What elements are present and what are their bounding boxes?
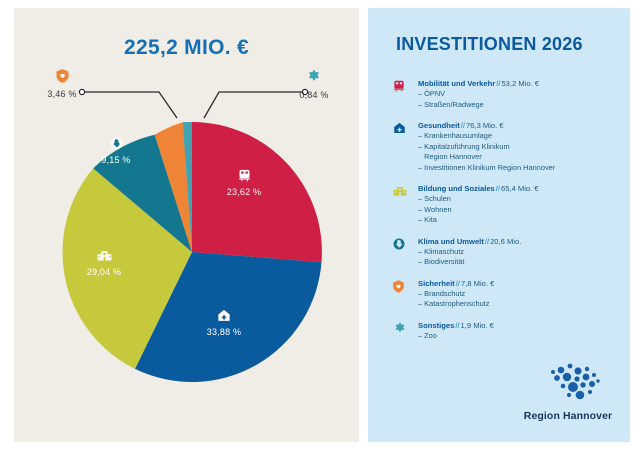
legend-panel: INVESTITIONEN 2026 Mobilität [368,8,630,442]
hospital-icon [392,121,407,135]
legend-sub-gesundheit-1: – Kapitalzuführung Klinikum [418,142,624,153]
legend-item-mobilitaet[interactable]: Mobilität und Verkehr//53,2 Mio. € – ÖPN… [392,78,624,110]
legend-sub-sonstiges-0: – Zoo [418,331,624,342]
legend-sub-mobilitaet-1: – Straßen/Radwege [418,100,624,111]
legend-head-gesundheit: Gesundheit//76,3 Mio. € [418,120,624,131]
star-icon [305,68,323,85]
shield-heart-icon [55,68,70,84]
callout-sonstiges: 0,84 % [274,68,354,100]
legend-icon-wrap-sonstiges [392,320,418,341]
legend-amount-sicherheit: 7,8 Mio. € [461,279,494,288]
legend-head-sonstiges: Sonstiges//1,9 Mio. € [418,320,624,331]
legend-list: Mobilität und Verkehr//53,2 Mio. € – ÖPN… [392,78,624,351]
logo-text: Region Hannover [513,410,623,422]
legend-item-gesundheit[interactable]: Gesundheit//76,3 Mio. € – Krankenhausuml… [392,120,624,173]
legend-text-sonstiges: Sonstiges//1,9 Mio. € – Zoo [418,320,624,342]
legend-head-mobilitaet: Mobilität und Verkehr//53,2 Mio. € [418,78,624,89]
legend-sub-gesundheit-3: – Investitionen Klinikum Region Hannover [418,163,624,174]
legend-sub-gesundheit-2: Region Hannover [418,152,624,163]
legend-sub-bildung-2: – Kita [418,215,624,226]
legend-head-sicherheit: Sicherheit//7,8 Mio. € [418,278,624,289]
legend-icon-wrap-mobilitaet [392,78,418,98]
callout-sicherheit-value: 3,46 % [47,89,76,99]
legend-amount-mobilitaet: 53,2 Mio. € [501,79,539,88]
pie-slice-mobilitaet[interactable] [192,122,322,262]
legend-icon-wrap-gesundheit [392,120,418,140]
legend-icon-wrap-sicherheit [392,278,418,299]
legend-sub-klima-0: – Klimaschutz [418,247,624,258]
legend-name-mobilitaet: Mobilität und Verkehr [418,79,495,88]
infographic-root: 225,2 MIO. € [0,0,643,454]
legend-name-sonstiges: Sonstiges [418,321,454,330]
globe-icon [392,237,406,251]
legend-icon-wrap-bildung [392,183,418,203]
legend-text-gesundheit: Gesundheit//76,3 Mio. € – Krankenhausuml… [418,120,624,173]
legend-head-klima: Klima und Umwelt//20,6 Mio. [418,236,624,247]
legend-name-sicherheit: Sicherheit [418,279,455,288]
chart-panel: 225,2 MIO. € [14,8,359,442]
legend-name-klima: Klima und Umwelt [418,237,484,246]
legend-amount-gesundheit: 76,3 Mio. € [466,121,504,130]
legend-sub-klima-1: – Biodiversität [418,257,624,268]
callout-sicherheit: 3,46 % [22,68,102,99]
legend-sub-sicherheit-1: – Katastrophenschutz [418,299,624,310]
legend-icon-wrap-klima [392,236,418,256]
legend-sub-sicherheit-0: – Brandschutz [418,289,624,300]
star-icon [392,321,408,336]
legend-sub-bildung-1: – Wohnen [418,205,624,216]
legend-name-bildung: Bildung und Soziales [418,184,495,193]
legend-name-gesundheit: Gesundheit [418,121,460,130]
legend-sub-mobilitaet-0: – ÖPNV [418,89,624,100]
legend-amount-sonstiges: 1,9 Mio. € [461,321,494,330]
tram-icon [392,79,406,93]
logo-dots-icon [513,358,623,410]
legend-sub-gesundheit-0: – Krankenhausumlage [418,131,624,142]
legend-text-klima: Klima und Umwelt//20,6 Mio. – Klimaschut… [418,236,624,268]
legend-item-sonstiges[interactable]: Sonstiges//1,9 Mio. € – Zoo [392,320,624,342]
legend-item-sicherheit[interactable]: Sicherheit//7,8 Mio. € – Brandschutz – K… [392,278,624,310]
school-icon [392,184,408,198]
shield-heart-icon [392,279,405,294]
legend-title: INVESTITIONEN 2026 [396,34,583,55]
region-hannover-logo: Region Hannover [513,358,623,428]
legend-head-bildung: Bildung und Soziales//65,4 Mio. € [418,183,624,194]
pie-slices [62,122,321,382]
legend-item-klima[interactable]: Klima und Umwelt//20,6 Mio. – Klimaschut… [392,236,624,268]
legend-sub-bildung-0: – Schulen [418,194,624,205]
callout-sonstiges-value: 0,84 % [299,90,328,100]
legend-text-sicherheit: Sicherheit//7,8 Mio. € – Brandschutz – K… [418,278,624,310]
legend-amount-klima: 20,6 Mio. [490,237,521,246]
legend-amount-bildung: 65,4 Mio. € [501,184,539,193]
pie-chart: 23,62 % 33,88 % [14,8,359,442]
legend-item-bildung[interactable]: Bildung und Soziales//65,4 Mio. € – Schu… [392,183,624,226]
legend-text-mobilitaet: Mobilität und Verkehr//53,2 Mio. € – ÖPN… [418,78,624,110]
legend-text-bildung: Bildung und Soziales//65,4 Mio. € – Schu… [418,183,624,226]
